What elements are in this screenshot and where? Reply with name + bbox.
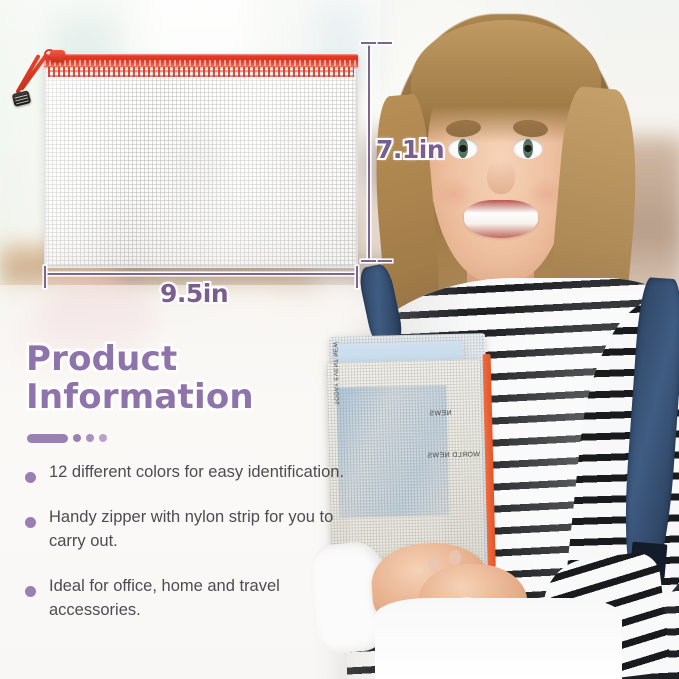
divider-dot-2: [86, 434, 94, 442]
bullet-dot-icon: [25, 472, 36, 483]
height-measure-tick-bottom: [361, 260, 376, 262]
height-measure-line: [368, 42, 370, 262]
divider-bar: [27, 434, 68, 443]
list-item: Handy zipper with nylon strip for you to…: [25, 506, 345, 553]
bullet-dot-icon: [25, 586, 36, 597]
bullet-text: 12 different colors for easy identificat…: [49, 461, 344, 484]
bullet-text: Handy zipper with nylon strip for you to…: [49, 506, 345, 553]
folder-text-world-news: WORLD NEWS: [427, 451, 480, 459]
pouch-zipper-perforation-row: [48, 67, 354, 77]
pouch-gloss-highlight: [44, 56, 358, 268]
divider-dot-3: [99, 434, 107, 442]
list-item: 12 different colors for easy identificat…: [25, 461, 345, 484]
title-divider: [27, 434, 400, 443]
zipper-cord-end-tab: [12, 90, 32, 107]
panel-title-line-2: Information: [26, 378, 400, 416]
width-measure-cap-left: [44, 266, 46, 288]
list-item: Ideal for office, home and travel access…: [25, 575, 345, 622]
zipper-cord-strand-b: [15, 54, 40, 94]
pouch-body: [44, 56, 358, 268]
zipper-tab-grip-lines: [14, 93, 29, 105]
pouch-right-edge: [353, 56, 358, 268]
width-dimension-label: 9.5in: [160, 279, 228, 308]
zipper-slider: [50, 50, 65, 62]
pouch-zipper-highlight: [44, 53, 358, 56]
height-measure-tick-top: [361, 42, 376, 44]
fingernail-2: [449, 550, 460, 565]
smiling-mouth: [464, 200, 538, 238]
width-measure-cap-right: [356, 266, 358, 288]
panel-title-line-1: Product: [26, 340, 400, 378]
bullet-dot-icon: [25, 517, 36, 528]
product-information-panel: Product Information 12 different colors …: [0, 340, 400, 644]
feature-bullet-list: 12 different colors for easy identificat…: [0, 461, 400, 622]
height-dimension-label: 7.1in: [376, 135, 444, 164]
nose: [487, 160, 515, 194]
pouch-bottom-edge: [44, 265, 358, 268]
mesh-zipper-pouch: [44, 42, 358, 268]
width-measure-line: [44, 273, 358, 275]
bullet-text: Ideal for office, home and travel access…: [49, 575, 345, 622]
white-top-hem: [375, 598, 622, 679]
pouch-zipper-stitching: [44, 60, 358, 66]
divider-dot-1: [73, 434, 81, 442]
product-info-graphic: NEWS WORLD NEWS TODAY EVENT NEW: [0, 0, 679, 679]
zipper-pull-assembly: [12, 46, 66, 108]
panel-title: Product Information: [26, 340, 400, 417]
fingernail-1: [428, 557, 439, 572]
folder-text-news: NEWS: [429, 410, 452, 418]
